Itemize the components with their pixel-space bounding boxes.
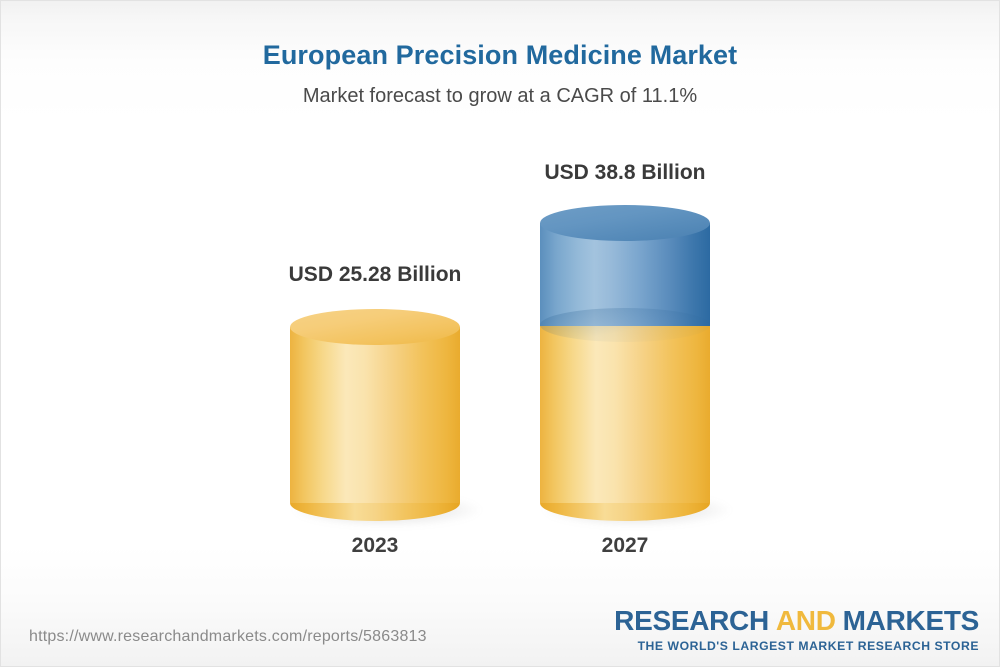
footer: https://www.researchandmarkets.com/repor… [1,586,999,666]
bar-cylinder-2023[interactable] [290,309,460,531]
logo-word-research: RESEARCH [614,605,769,636]
bar-2023-top-cap [290,309,460,345]
logo-tagline: THE WORLD'S LARGEST MARKET RESEARCH STOR… [614,640,979,652]
bar-cylinder-2027[interactable] [540,205,710,531]
bar-2027-category-label: 2027 [540,534,710,558]
report-url-link[interactable]: https://www.researchandmarkets.com/repor… [29,628,427,646]
bar-2027-value-label: USD 38.8 Billion [535,161,715,185]
logo-word-markets: MARKETS [843,605,979,636]
bar-2023-body [290,327,460,503]
bar-2023-category-label: 2023 [290,534,460,558]
bar-2027-top-cap [540,205,710,241]
logo-wordmark: RESEARCHANDMARKETS [614,607,979,635]
researchandmarkets-logo[interactable]: RESEARCHANDMARKETS THE WORLD'S LARGEST M… [614,607,979,652]
logo-word-and: AND [776,605,836,636]
bar-2027-base-segment [540,325,710,503]
chart-plot-area: USD 25.28 Billion 2023 USD 38.8 Billion … [1,1,999,586]
infographic-canvas: European Precision Medicine Market Marke… [0,0,1000,667]
bar-2023-value-label: USD 25.28 Billion [280,263,470,287]
